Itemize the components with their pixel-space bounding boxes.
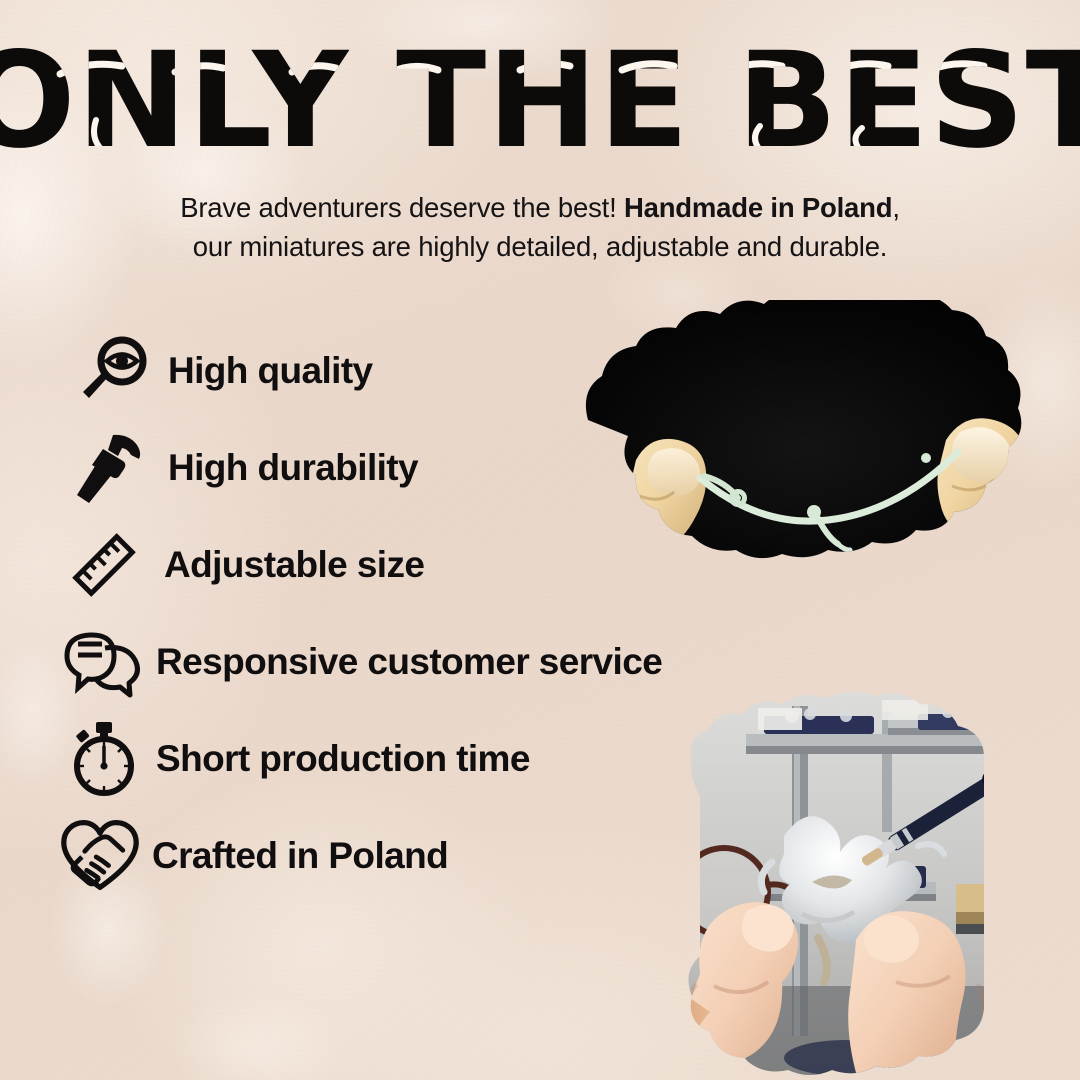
handshake-heart-icon xyxy=(60,816,140,896)
headline-text: ONLY THE BEST xyxy=(0,34,1080,176)
photo-top-content xyxy=(528,300,1080,630)
subtitle-tail: , xyxy=(892,192,899,223)
headline-graphic: ONLY THE BEST ONLY THE BEST xyxy=(0,34,1080,176)
speech-bubbles-icon xyxy=(64,622,144,702)
photo-top-graphic xyxy=(528,300,1080,630)
photo-bottom-graphic xyxy=(596,686,1080,1080)
feature-label: High quality xyxy=(168,350,373,392)
subtitle-line-2: our miniatures are highly detailed, adju… xyxy=(0,227,1080,266)
feature-label: Crafted in Poland xyxy=(152,835,448,877)
promotional-poster: ONLY THE BEST ONLY THE BEST xyxy=(0,0,1080,1080)
workshop-painting-photo xyxy=(596,686,1080,1080)
subtitle-lead: Brave adventurers deserve the best! xyxy=(180,192,624,223)
feature-label: Responsive customer service xyxy=(156,641,662,683)
subtitle-bold: Handmade in Poland xyxy=(624,192,892,223)
stopwatch-icon xyxy=(64,719,144,799)
hammer-icon xyxy=(72,428,152,508)
feature-label: High durability xyxy=(168,447,418,489)
ruler-icon xyxy=(64,525,144,605)
magnifier-eye-icon xyxy=(76,331,156,411)
feature-label: Short production time xyxy=(156,738,530,780)
photo-bottom-content xyxy=(596,686,1080,1080)
flexible-miniature-photo xyxy=(528,300,1080,630)
headline-container: ONLY THE BEST ONLY THE BEST xyxy=(0,34,1080,176)
subtitle: Brave adventurers deserve the best! Hand… xyxy=(0,188,1080,266)
subtitle-line-1: Brave adventurers deserve the best! Hand… xyxy=(0,188,1080,227)
feature-label: Adjustable size xyxy=(164,544,424,586)
